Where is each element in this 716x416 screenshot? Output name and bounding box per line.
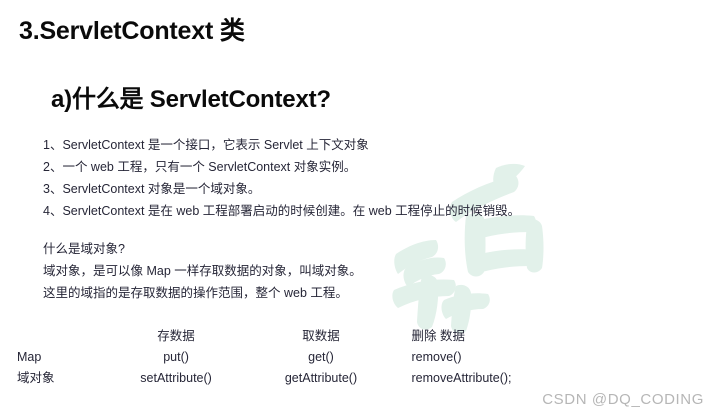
table-row: Map put() get() remove() <box>17 347 577 368</box>
table-cell-store: put() <box>104 347 249 368</box>
list-item: 2、一个 web 工程，只有一个 ServletContext 对象实例。 <box>43 156 520 178</box>
paragraph-line: 什么是域对象? <box>43 238 362 260</box>
table-cell-rowlabel: Map <box>17 347 104 368</box>
definition-list: 1、ServletContext 是一个接口，它表示 Servlet 上下文对象… <box>43 134 520 222</box>
paragraph-line: 域对象，是可以像 Map 一样存取数据的对象，叫域对象。 <box>43 260 362 282</box>
csdn-watermark: CSDN @DQ_CODING <box>542 391 704 408</box>
table-cell-delete: removeAttribute(); <box>393 368 577 389</box>
list-item: 4、ServletContext 是在 web 工程部署启动的时候创建。在 we… <box>43 200 520 222</box>
paragraph-line: 这里的域指的是存取数据的操作范围，整个 web 工程。 <box>43 282 362 304</box>
table-header-cell-blank <box>17 326 104 347</box>
table-cell-store: setAttribute() <box>104 368 249 389</box>
table-cell-get: getAttribute() <box>249 368 394 389</box>
table-header-cell-store: 存数据 <box>104 326 249 347</box>
table-row: 域对象 setAttribute() getAttribute() remove… <box>17 368 577 389</box>
table-cell-delete: remove() <box>393 347 577 368</box>
table-header-cell-get: 取数据 <box>249 326 394 347</box>
table-header-row: 存数据 取数据 删除 数据 <box>17 326 577 347</box>
table-cell-get: get() <box>249 347 394 368</box>
table-header-cell-delete: 删除 数据 <box>393 326 577 347</box>
scope-object-explanation: 什么是域对象? 域对象，是可以像 Map 一样存取数据的对象，叫域对象。 这里的… <box>43 238 362 304</box>
table-cell-rowlabel: 域对象 <box>17 368 104 389</box>
section-subtitle: a)什么是 ServletContext? <box>51 79 331 114</box>
api-comparison-table: 存数据 取数据 删除 数据 Map put() get() remove() 域… <box>17 326 577 389</box>
document-page: 3.ServletContext 类 a)什么是 ServletContext?… <box>0 0 716 416</box>
page-title: 3.ServletContext 类 <box>19 11 245 47</box>
list-item: 3、ServletContext 对象是一个域对象。 <box>43 178 520 200</box>
list-item: 1、ServletContext 是一个接口，它表示 Servlet 上下文对象 <box>43 134 520 156</box>
